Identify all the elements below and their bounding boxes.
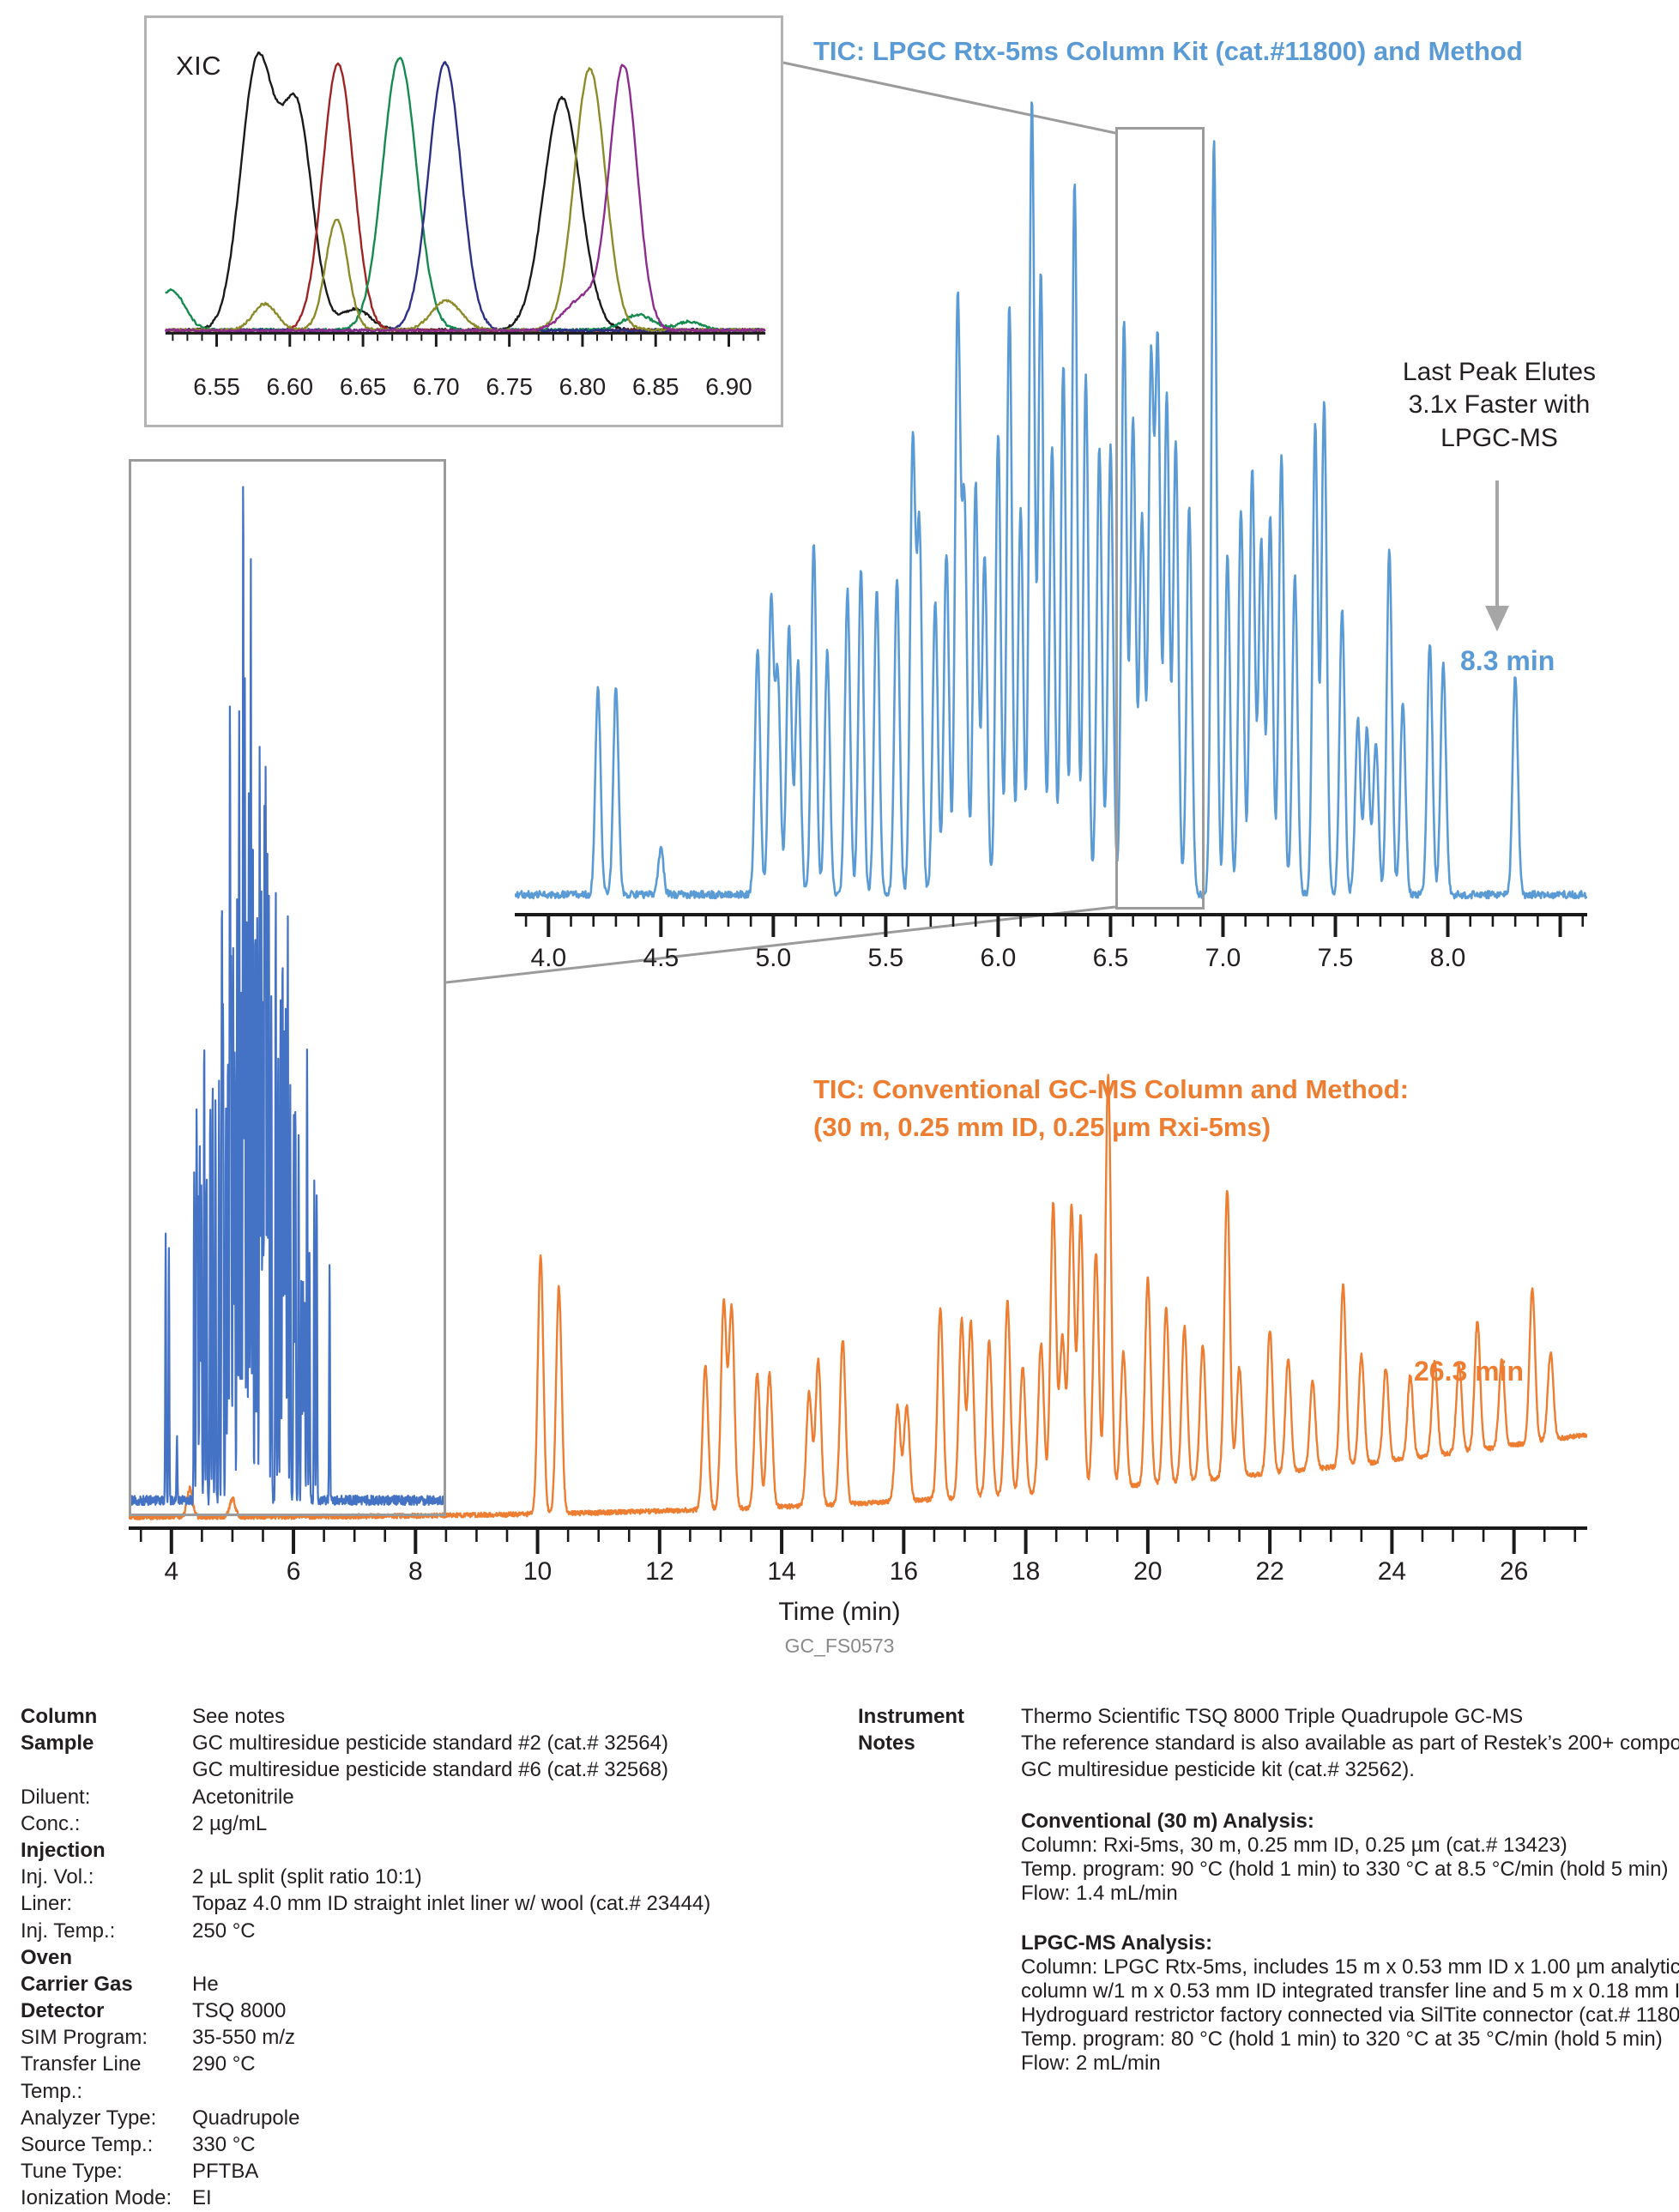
lpgc-tick-label: 5.0 <box>756 944 792 973</box>
conventional-tick-label: 8 <box>408 1557 423 1586</box>
notes-value: Acetonitrile <box>192 1784 294 1810</box>
notes-value: See notes <box>192 1703 285 1730</box>
notes-key: Sample <box>21 1730 192 1756</box>
notes-spacer <box>858 1784 1656 1810</box>
lpgc-tick-label: 4.0 <box>530 944 566 973</box>
notes-value: Quadrupole <box>192 2105 299 2131</box>
lpgc-tick-label: 6.0 <box>981 944 1017 973</box>
notes-row: Diluent:Acetonitrile <box>21 1784 793 1810</box>
notes-key: Carrier Gas <box>21 1971 192 1997</box>
notes-row: Inj. Temp.:250 °C <box>21 1918 793 1944</box>
conventional-x-tick-labels: 468101214161820222426 <box>129 1557 1587 1595</box>
notes-key: Ionization Mode: <box>21 2185 192 2211</box>
notes-value: 290 °C <box>192 2051 256 2077</box>
notes-key: Injection <box>21 1837 192 1864</box>
xic-tick-label: 6.60 <box>267 373 314 401</box>
conventional-tick-label: 18 <box>1012 1557 1040 1586</box>
notes-key: Diluent: <box>21 1784 192 1810</box>
notes-spacer <box>858 1906 1656 1931</box>
lpgc-tick-label: 8.0 <box>1430 944 1466 973</box>
notes-row: Liner:Topaz 4.0 mm ID straight inlet lin… <box>21 1890 793 1917</box>
notes-value: 330 °C <box>192 2131 256 2158</box>
conventional-tick-label: 6 <box>287 1557 301 1586</box>
notes-value: 2 µL split (split ratio 10:1) <box>192 1864 422 1890</box>
notes-line: Temp. program: 80 °C (hold 1 min) to 320… <box>1021 2028 1656 2052</box>
notes-value: EI <box>192 2185 212 2211</box>
notes-line: Flow: 1.4 mL/min <box>1021 1882 1656 1906</box>
notes-line: Thermo Scientific TSQ 8000 Triple Quadru… <box>1021 1703 1679 1730</box>
notes-value: PFTBA <box>192 2158 258 2185</box>
notes-key: Column <box>21 1703 192 1730</box>
xic-tick-label: 6.65 <box>340 373 387 401</box>
notes-row: Inj. Vol.:2 µL split (split ratio 10:1) <box>21 1864 793 1890</box>
notes-value: He <box>192 1971 219 1997</box>
conventional-tick-label: 22 <box>1255 1557 1283 1586</box>
lpgc-x-tick-labels: 4.04.55.05.56.06.57.07.58.0 <box>515 944 1587 978</box>
lpgc-chart-title: TIC: LPGC Rtx-5ms Column Kit (cat.#11800… <box>813 36 1523 67</box>
notes-line: Conventional (30 m) Analysis: <box>1021 1810 1656 1834</box>
notes-key: Inj. Vol.: <box>21 1864 192 1890</box>
notes-row: Ionization Mode:EI <box>21 2185 793 2211</box>
chromatogram-figure: XIC 6.556.606.656.706.756.806.856.90 TIC… <box>0 0 1679 2190</box>
notes-key: Transfer Line Temp.: <box>21 2051 192 2104</box>
notes-line: Hydroguard restrictor factory connected … <box>1021 2003 1656 2028</box>
conventional-tick-label: 16 <box>890 1557 918 1586</box>
notes-key: Inj. Temp.: <box>21 1918 192 1944</box>
xic-tick-label: 6.70 <box>413 373 460 401</box>
notes-key: Analyzer Type: <box>21 2105 192 2131</box>
notes-value: TSQ 8000 <box>192 1997 286 2024</box>
notes-value: 35-550 m/z <box>192 2024 295 2051</box>
lpgc-tick-label: 6.5 <box>1093 944 1129 973</box>
notes-row: Analyzer Type:Quadrupole <box>21 2105 793 2131</box>
lpgc-tick-label: 5.5 <box>868 944 904 973</box>
conventional-tick-label: 14 <box>767 1557 795 1586</box>
conventional-tick-label: 20 <box>1133 1557 1162 1586</box>
notes-row: Oven <box>21 1944 793 1971</box>
notes-key: Conc.: <box>21 1810 192 1837</box>
notes-line: LPGC-MS Analysis: <box>1021 1931 1656 1955</box>
notes-row: Carrier GasHe <box>21 1971 793 1997</box>
notes-row: DetectorTSQ 8000 <box>21 1997 793 2024</box>
notes-key: Source Temp.: <box>21 2131 192 2158</box>
notes-key: Liner: <box>21 1890 192 1917</box>
notes-row: ColumnSee notes <box>21 1703 793 1730</box>
lpgc-tick-label: 4.5 <box>643 944 679 973</box>
notes-value: Topaz 4.0 mm ID straight inlet liner w/ … <box>192 1890 710 1917</box>
notes-line: Flow: 2 mL/min <box>1021 2052 1656 2076</box>
notes-line: Column: Rxi-5ms, 30 m, 0.25 mm ID, 0.25 … <box>1021 1834 1656 1858</box>
conventional-tick-label: 4 <box>164 1557 178 1586</box>
notes-key: SIM Program: <box>21 2024 192 2051</box>
notes-key: Oven <box>21 1944 192 1971</box>
notes-row: SampleGC multiresidue pesticide standard… <box>21 1730 793 1756</box>
notes-value: GC multiresidue pesticide standard #2 (c… <box>192 1730 668 1756</box>
instrument-notes-body: Thermo Scientific TSQ 8000 Triple Quadru… <box>1021 1703 1679 1784</box>
notes-row: SIM Program:35-550 m/z <box>21 2024 793 2051</box>
xic-tick-label: 6.55 <box>193 373 240 401</box>
lpgc-compressed-path <box>129 487 446 1506</box>
notes-row: Source Temp.:330 °C <box>21 2131 793 2158</box>
notes-key: Tune Type: <box>21 2158 192 2185</box>
notes-key: Detector <box>21 1997 192 2024</box>
notes-line: The reference standard is also available… <box>1021 1730 1679 1756</box>
xic-zoom-region-rect <box>1115 127 1205 910</box>
notes-row: Injection <box>21 1837 793 1864</box>
notes-line: column w/1 m x 0.53 mm ID integrated tra… <box>1021 1979 1656 2003</box>
notes-value: 250 °C <box>192 1918 256 1944</box>
notes-line: Column: LPGC Rtx-5ms, includes 15 m x 0.… <box>1021 1955 1656 1979</box>
notes-line: GC multiresidue pesticide kit (cat.# 325… <box>1021 1756 1679 1783</box>
notes-value: 2 µg/mL <box>192 1810 267 1837</box>
notes-value: GC multiresidue pesticide standard #6 (c… <box>192 1756 668 1783</box>
lpgc-compressed-trace <box>129 459 446 1516</box>
x-axis-title: Time (min) <box>0 1598 1679 1627</box>
notes-row: Tune Type:PFTBA <box>21 2158 793 2185</box>
lpgc-chromatogram-trace <box>515 86 1587 910</box>
figure-id-caption: GC_FS0573 <box>0 1635 1679 1658</box>
lpgc-tick-label: 7.5 <box>1318 944 1354 973</box>
notes-label: Notes <box>858 1730 1021 1756</box>
sample-method-table: ColumnSee notesSampleGC multiresidue pes… <box>21 1703 793 2212</box>
notes-row: Conc.:2 µg/mL <box>21 1810 793 1837</box>
instrument-notes-header: InstrumentNotesThermo Scientific TSQ 800… <box>858 1703 1656 1784</box>
instrument-label: Instrument <box>858 1703 1021 1730</box>
lpgc-tick-label: 7.0 <box>1205 944 1241 973</box>
instrument-notes-label: InstrumentNotes <box>858 1703 1021 1756</box>
conventional-tick-label: 24 <box>1378 1557 1406 1586</box>
notes-row: Transfer Line Temp.:290 °C <box>21 2051 793 2104</box>
lpgc-tic-path <box>515 102 1587 898</box>
instrument-notes-table: InstrumentNotesThermo Scientific TSQ 800… <box>858 1703 1656 2076</box>
conventional-tick-label: 10 <box>523 1557 552 1586</box>
xic-label: XIC <box>176 51 221 82</box>
conventional-tick-label: 26 <box>1500 1557 1528 1586</box>
notes-row: GC multiresidue pesticide standard #6 (c… <box>21 1756 793 1783</box>
conventional-tick-label: 12 <box>645 1557 673 1586</box>
notes-line: Temp. program: 90 °C (hold 1 min) to 330… <box>1021 1858 1656 1882</box>
